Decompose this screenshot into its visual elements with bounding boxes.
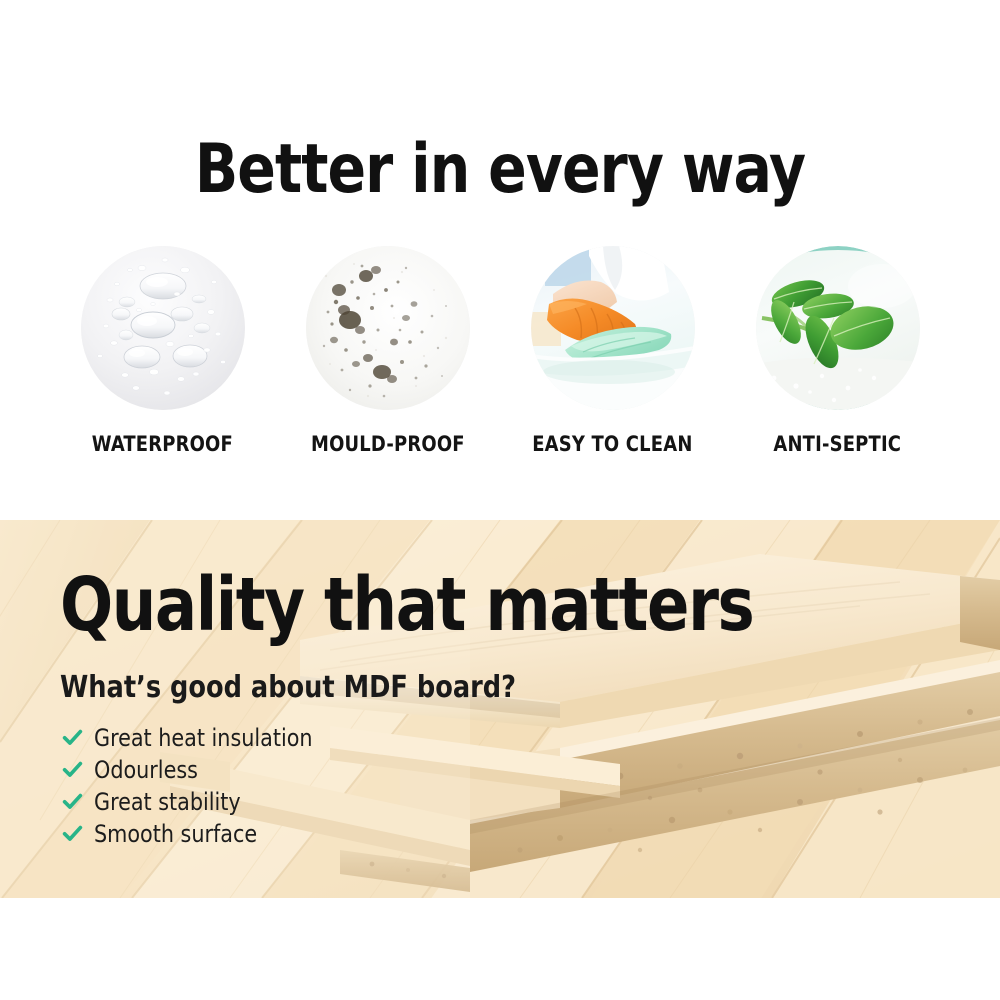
list-item-label: Great heat insulation [94,724,313,752]
section-title: Quality that matters [60,568,753,642]
page-title: Better in every way [35,134,965,205]
feature-label: ANTI-SEPTIC [774,432,902,456]
feature-item-mould-proof: MOULD-PROOF [275,246,500,456]
section-subtitle: What’s good about MDF board? [60,670,516,705]
feature-list: WATERPROOF [0,246,1000,476]
feature-item-anti-septic: ANTI-SEPTIC [725,246,950,456]
infographic-page: Better in every way [0,0,1000,1000]
check-icon [62,759,83,780]
feature-label: MOULD-PROOF [311,432,465,456]
benefits-list: Great heat insulation Odourless Great st… [62,723,322,848]
feature-label: WATERPROOF [92,432,233,456]
features-section: Better in every way [0,0,1000,520]
list-item: Smooth surface [62,819,322,848]
quality-section: Quality that matters What’s good about M… [0,520,1000,898]
list-item-label: Smooth surface [94,820,257,848]
green-leaves-icon [756,246,920,410]
list-item-label: Great stability [94,788,241,816]
list-item: Great stability [62,787,322,816]
check-icon [62,791,83,812]
gloved-hand-wiping-cloth-icon [531,246,695,410]
feature-item-waterproof: WATERPROOF [50,246,275,456]
mould-spots-icon [306,246,470,410]
water-droplets-icon [81,246,245,410]
list-item: Odourless [62,755,322,784]
list-item: Great heat insulation [62,723,322,752]
feature-item-easy-to-clean: EASY TO CLEAN [500,246,725,456]
list-item-label: Odourless [94,756,198,784]
check-icon [62,823,83,844]
feature-label: EASY TO CLEAN [532,432,692,456]
bottom-white-strip [0,898,1000,1000]
check-icon [62,727,83,748]
